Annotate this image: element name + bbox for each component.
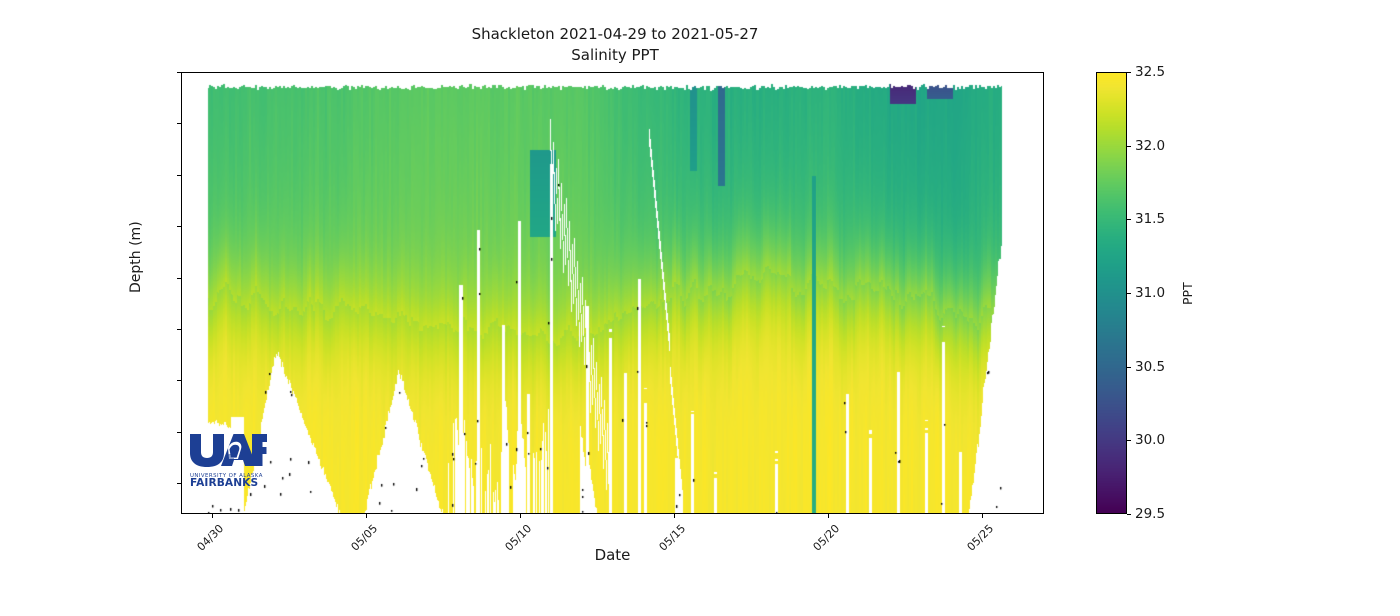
x-tick-mark xyxy=(366,514,367,518)
x-tick-label: 05/20 xyxy=(748,522,842,616)
y-tick-mark xyxy=(177,175,181,176)
page-title: Shackleton 2021-04-29 to 2021-05-27 Sali… xyxy=(0,24,1230,66)
colorbar-tick-mark xyxy=(1127,72,1131,73)
x-tick-mark xyxy=(828,514,829,518)
y-tick-mark xyxy=(177,226,181,227)
y-tick-mark xyxy=(177,123,181,124)
colorbar-tick-label: 32.5 xyxy=(1135,64,1165,80)
plot-axes xyxy=(181,72,1044,514)
y-tick-mark xyxy=(177,380,181,381)
y-tick-mark xyxy=(177,432,181,433)
colorbar-tick-label: 30.5 xyxy=(1135,359,1165,375)
salinity-section-figure: Shackleton 2021-04-29 to 2021-05-27 Sali… xyxy=(0,0,1400,600)
title-line-1: Shackleton 2021-04-29 to 2021-05-27 xyxy=(0,24,1230,45)
x-axis-label: Date xyxy=(181,546,1044,564)
colorbar-tick-mark xyxy=(1127,440,1131,441)
y-axis-label: Depth (m) xyxy=(128,221,144,293)
uaf-logo-line-2: FAIRBANKS xyxy=(190,477,258,488)
colorbar-tick-mark xyxy=(1127,146,1131,147)
colorbar-tick-mark xyxy=(1127,219,1131,220)
x-tick-label: 05/10 xyxy=(440,522,534,616)
colorbar-tick-mark xyxy=(1127,514,1131,515)
colorbar-tick-label: 32.0 xyxy=(1135,138,1165,154)
x-tick-label: 05/15 xyxy=(594,522,688,616)
colorbar-tick-mark xyxy=(1127,293,1131,294)
salinity-heatmap xyxy=(182,73,1044,514)
colorbar-tick-label: 29.5 xyxy=(1135,506,1165,522)
uaf-logo: UNIVERSITY OF ALASKA FAIRBANKS xyxy=(188,430,268,488)
y-tick-mark xyxy=(177,329,181,330)
colorbar-tick-label: 31.0 xyxy=(1135,285,1165,301)
x-tick-mark xyxy=(212,514,213,518)
y-tick-mark xyxy=(177,483,181,484)
x-tick-mark xyxy=(520,514,521,518)
y-tick-mark xyxy=(177,278,181,279)
x-tick-mark xyxy=(674,514,675,518)
colorbar-tick-label: 30.0 xyxy=(1135,432,1165,448)
y-tick-mark xyxy=(177,72,181,73)
colorbar-label: PPT xyxy=(1180,282,1195,305)
colorbar-tick-mark xyxy=(1127,367,1131,368)
x-tick-label: 05/05 xyxy=(286,522,380,616)
title-line-2: Salinity PPT xyxy=(0,45,1230,66)
x-tick-label: 04/30 xyxy=(132,522,226,616)
colorbar-tick-label: 31.5 xyxy=(1135,211,1165,227)
colorbar xyxy=(1096,72,1127,514)
x-tick-label: 05/25 xyxy=(902,522,996,616)
colorbar-gradient xyxy=(1097,73,1126,513)
x-tick-mark xyxy=(982,514,983,518)
